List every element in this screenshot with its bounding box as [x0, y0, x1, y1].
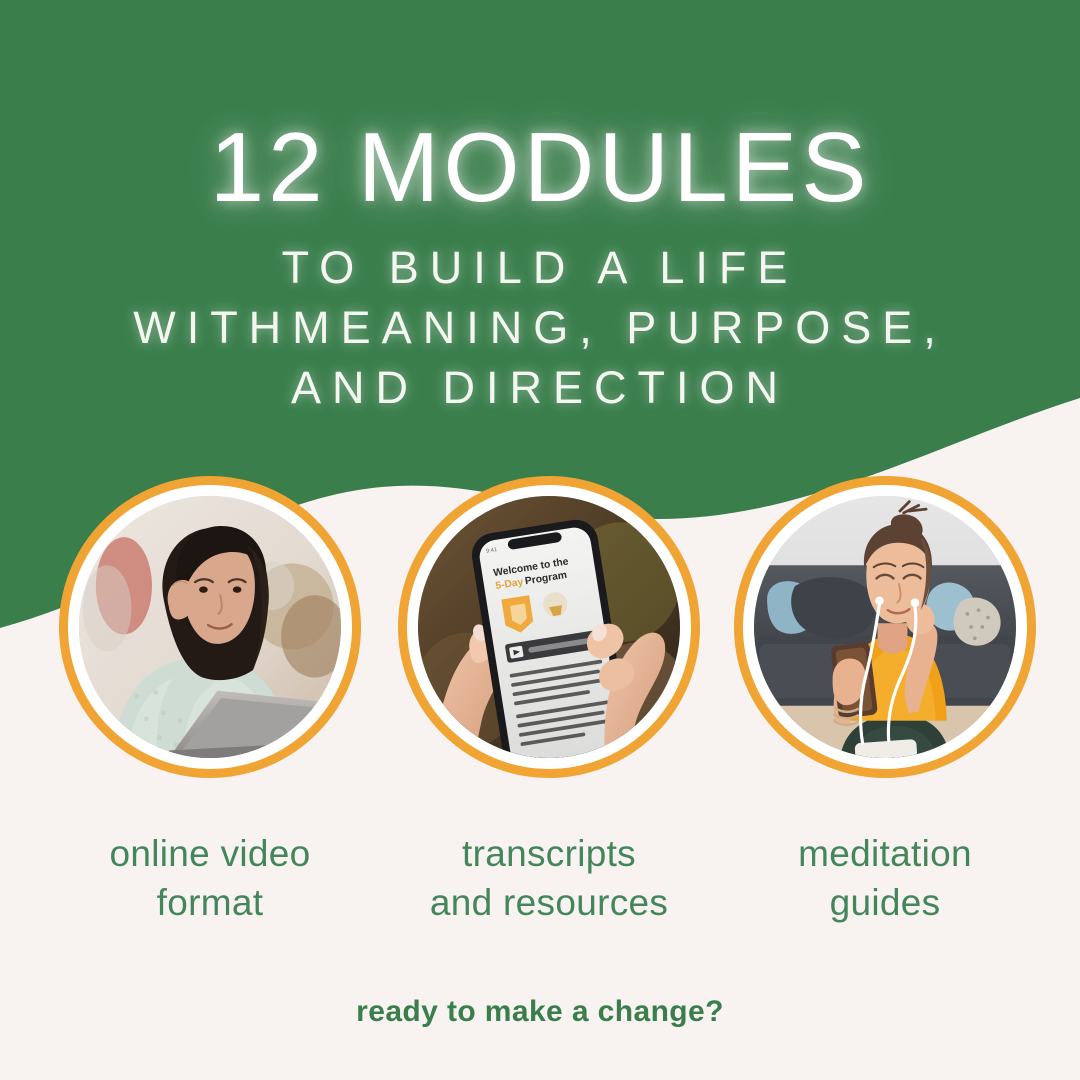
feature-photo-1: [79, 496, 341, 758]
feature-circle-frame-3: [734, 476, 1036, 778]
feature-caption-3-line-1: meditation: [734, 830, 1036, 879]
feature-photo-2: 9:41 Welcome to the 5-Day Program: [418, 496, 680, 758]
feature-circle-frame-2: 9:41 Welcome to the 5-Day Program: [398, 476, 700, 778]
feature-caption-3-line-2: guides: [734, 879, 1036, 928]
subtitle-line-3: AND DIRECTION: [0, 358, 1080, 418]
feature-caption-3: meditation guides: [734, 778, 1036, 928]
headline-block: 12 MODULES TO BUILD A LIFE WITHMEANING, …: [0, 0, 1080, 418]
feature-meditation-guides: meditation guides: [734, 476, 1036, 928]
promo-poster: 12 MODULES TO BUILD A LIFE WITHMEANING, …: [0, 0, 1080, 1080]
subtitle-line-2: WITHMEANING, PURPOSE,: [0, 298, 1080, 358]
laptop-woman-illustration: [79, 496, 341, 758]
meditating-woman-illustration: [754, 496, 1016, 758]
phone-in-hands-illustration: 9:41 Welcome to the 5-Day Program: [418, 496, 680, 758]
feature-caption-2-line-2: and resources: [398, 879, 700, 928]
subtitle-line-1: TO BUILD A LIFE: [0, 238, 1080, 298]
feature-caption-1: online video format: [59, 778, 361, 928]
feature-caption-2-line-1: transcripts: [398, 830, 700, 879]
feature-transcripts-and-resources: 9:41 Welcome to the 5-Day Program: [398, 476, 700, 928]
feature-caption-1-line-1: online video: [59, 830, 361, 879]
page-subtitle: TO BUILD A LIFE WITHMEANING, PURPOSE, AN…: [0, 216, 1080, 418]
feature-circle-frame-1: [59, 476, 361, 778]
feature-photo-3: [754, 496, 1016, 758]
feature-caption-2: transcripts and resources: [398, 778, 700, 928]
page-title: 12 MODULES: [0, 0, 1080, 216]
cta-text: ready to make a change?: [0, 995, 1080, 1029]
feature-caption-1-line-2: format: [59, 879, 361, 928]
feature-online-video-format: online video format: [59, 476, 361, 928]
